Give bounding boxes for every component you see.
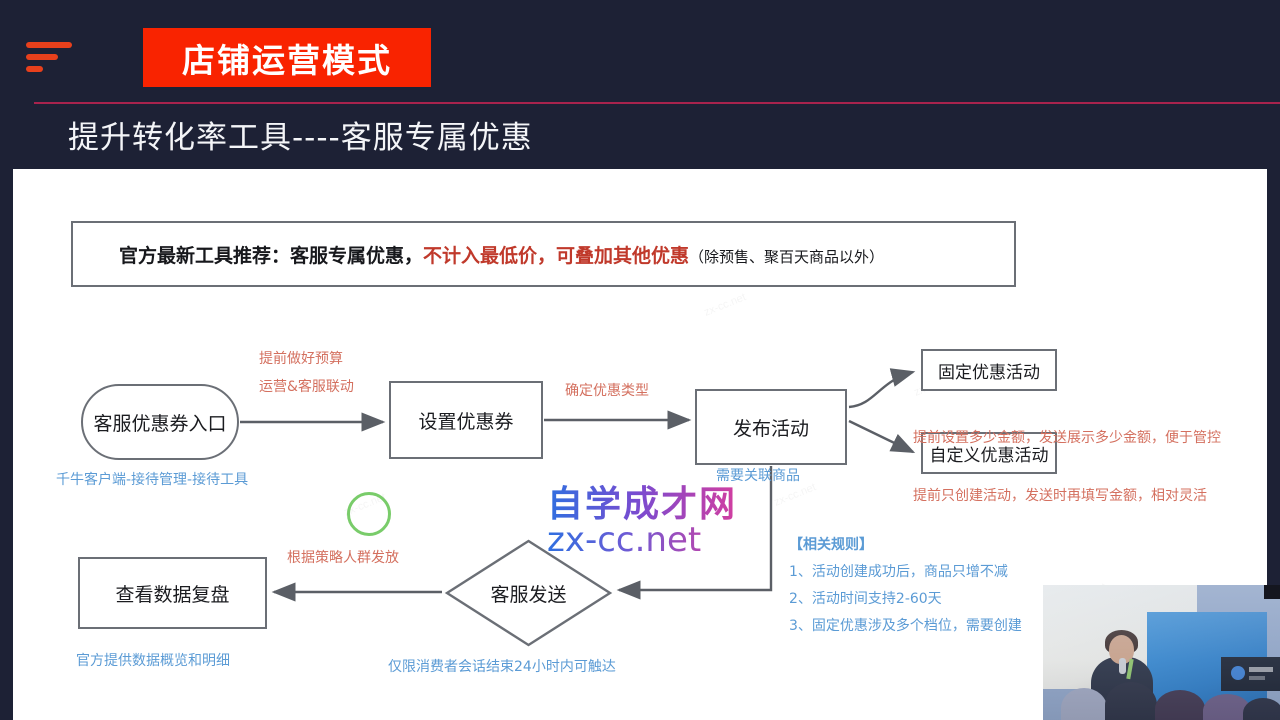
annotation-crowd: 根据策略人群发放 — [287, 547, 399, 567]
rules-block: 【相关规则】 1、活动创建成功后，商品只增不减 2、活动时间支持2-60天 3、… — [789, 532, 1022, 640]
slide-subtitle: 提升转化率工具----客服专属优惠 — [68, 112, 533, 157]
bars-descending-icon — [26, 42, 72, 82]
flow-node-send[interactable]: 客服发送 — [444, 538, 613, 648]
flow-node-publish[interactable]: 发布活动 — [695, 389, 847, 465]
flow-node-review-label: 查看数据复盘 — [115, 580, 229, 607]
callout-highlight-text: 不计入最低价，可叠加其他优惠 — [423, 245, 689, 267]
callout-box: 官方最新工具推荐：客服专属优惠，不计入最低价，可叠加其他优惠（除预售、聚百天商品… — [71, 221, 1016, 287]
rules-title: 【相关规则】 — [789, 532, 1022, 559]
presentation-video-overlay[interactable] — [1043, 585, 1280, 720]
banner-title-text: 店铺运营模式 — [182, 34, 392, 82]
slide-screen: 店铺运营模式 提升转化率工具----客服专属优惠 zx-cc.net zx-cc… — [0, 0, 1280, 720]
flow-node-entry-label: 客服优惠券入口 — [93, 409, 226, 436]
annotation-entry-path: 千牛客户端-接待管理-接待工具 — [56, 469, 248, 489]
flow-node-send-label: 客服发送 — [444, 538, 613, 648]
callout-lead-text: 官方最新工具推荐：客服专属优惠， — [119, 245, 423, 267]
flow-node-entry[interactable]: 客服优惠券入口 — [81, 384, 239, 460]
site-watermark-cn: 自学成才网 — [547, 485, 737, 525]
rules-item: 2、活动时间支持2-60天 — [789, 586, 1022, 613]
annotation-review-note: 官方提供数据概览和明细 — [76, 650, 230, 670]
annotation-budget: 提前做好预算 — [259, 348, 343, 368]
rules-item: 1、活动创建成功后，商品只增不减 — [789, 559, 1022, 586]
bg-watermark: zx-cc.net — [772, 481, 817, 509]
header-divider — [34, 102, 1280, 104]
green-circle-highlight-icon — [347, 492, 391, 536]
video-corner-notch — [1264, 585, 1280, 599]
banner-title-box: 店铺运营模式 — [143, 28, 431, 87]
annotation-send-note: 仅限消费者会话结束24小时内可触达 — [388, 656, 616, 676]
flow-node-setup[interactable]: 设置优惠券 — [389, 381, 543, 459]
annotation-relate-goods: 需要关联商品 — [716, 465, 800, 485]
annotation-coupon-type: 确定优惠类型 — [565, 380, 649, 400]
annotation-fixed-note: 提前设置多少金额，发送展示多少金额，便于管控 — [913, 427, 1221, 447]
callout-note-text: （除预售、聚百天商品以外） — [689, 248, 884, 266]
slide-header: 店铺运营模式 提升转化率工具----客服专属优惠 — [0, 0, 1280, 168]
flow-node-publish-label: 发布活动 — [733, 414, 809, 441]
flow-node-fixed-label: 固定优惠活动 — [938, 358, 1040, 383]
annotation-ops-link: 运营&客服联动 — [259, 376, 354, 396]
flow-node-setup-label: 设置优惠券 — [418, 407, 513, 434]
video-haze-overlay — [1043, 585, 1280, 720]
flow-node-fixed[interactable]: 固定优惠活动 — [921, 349, 1057, 391]
annotation-custom-note: 提前只创建活动，发送时再填写金额，相对灵活 — [913, 485, 1207, 505]
bg-watermark: zx-cc.net — [702, 291, 747, 319]
flow-node-review[interactable]: 查看数据复盘 — [78, 557, 267, 629]
rules-item: 3、固定优惠涉及多个档位，需要创建 — [789, 613, 1022, 640]
